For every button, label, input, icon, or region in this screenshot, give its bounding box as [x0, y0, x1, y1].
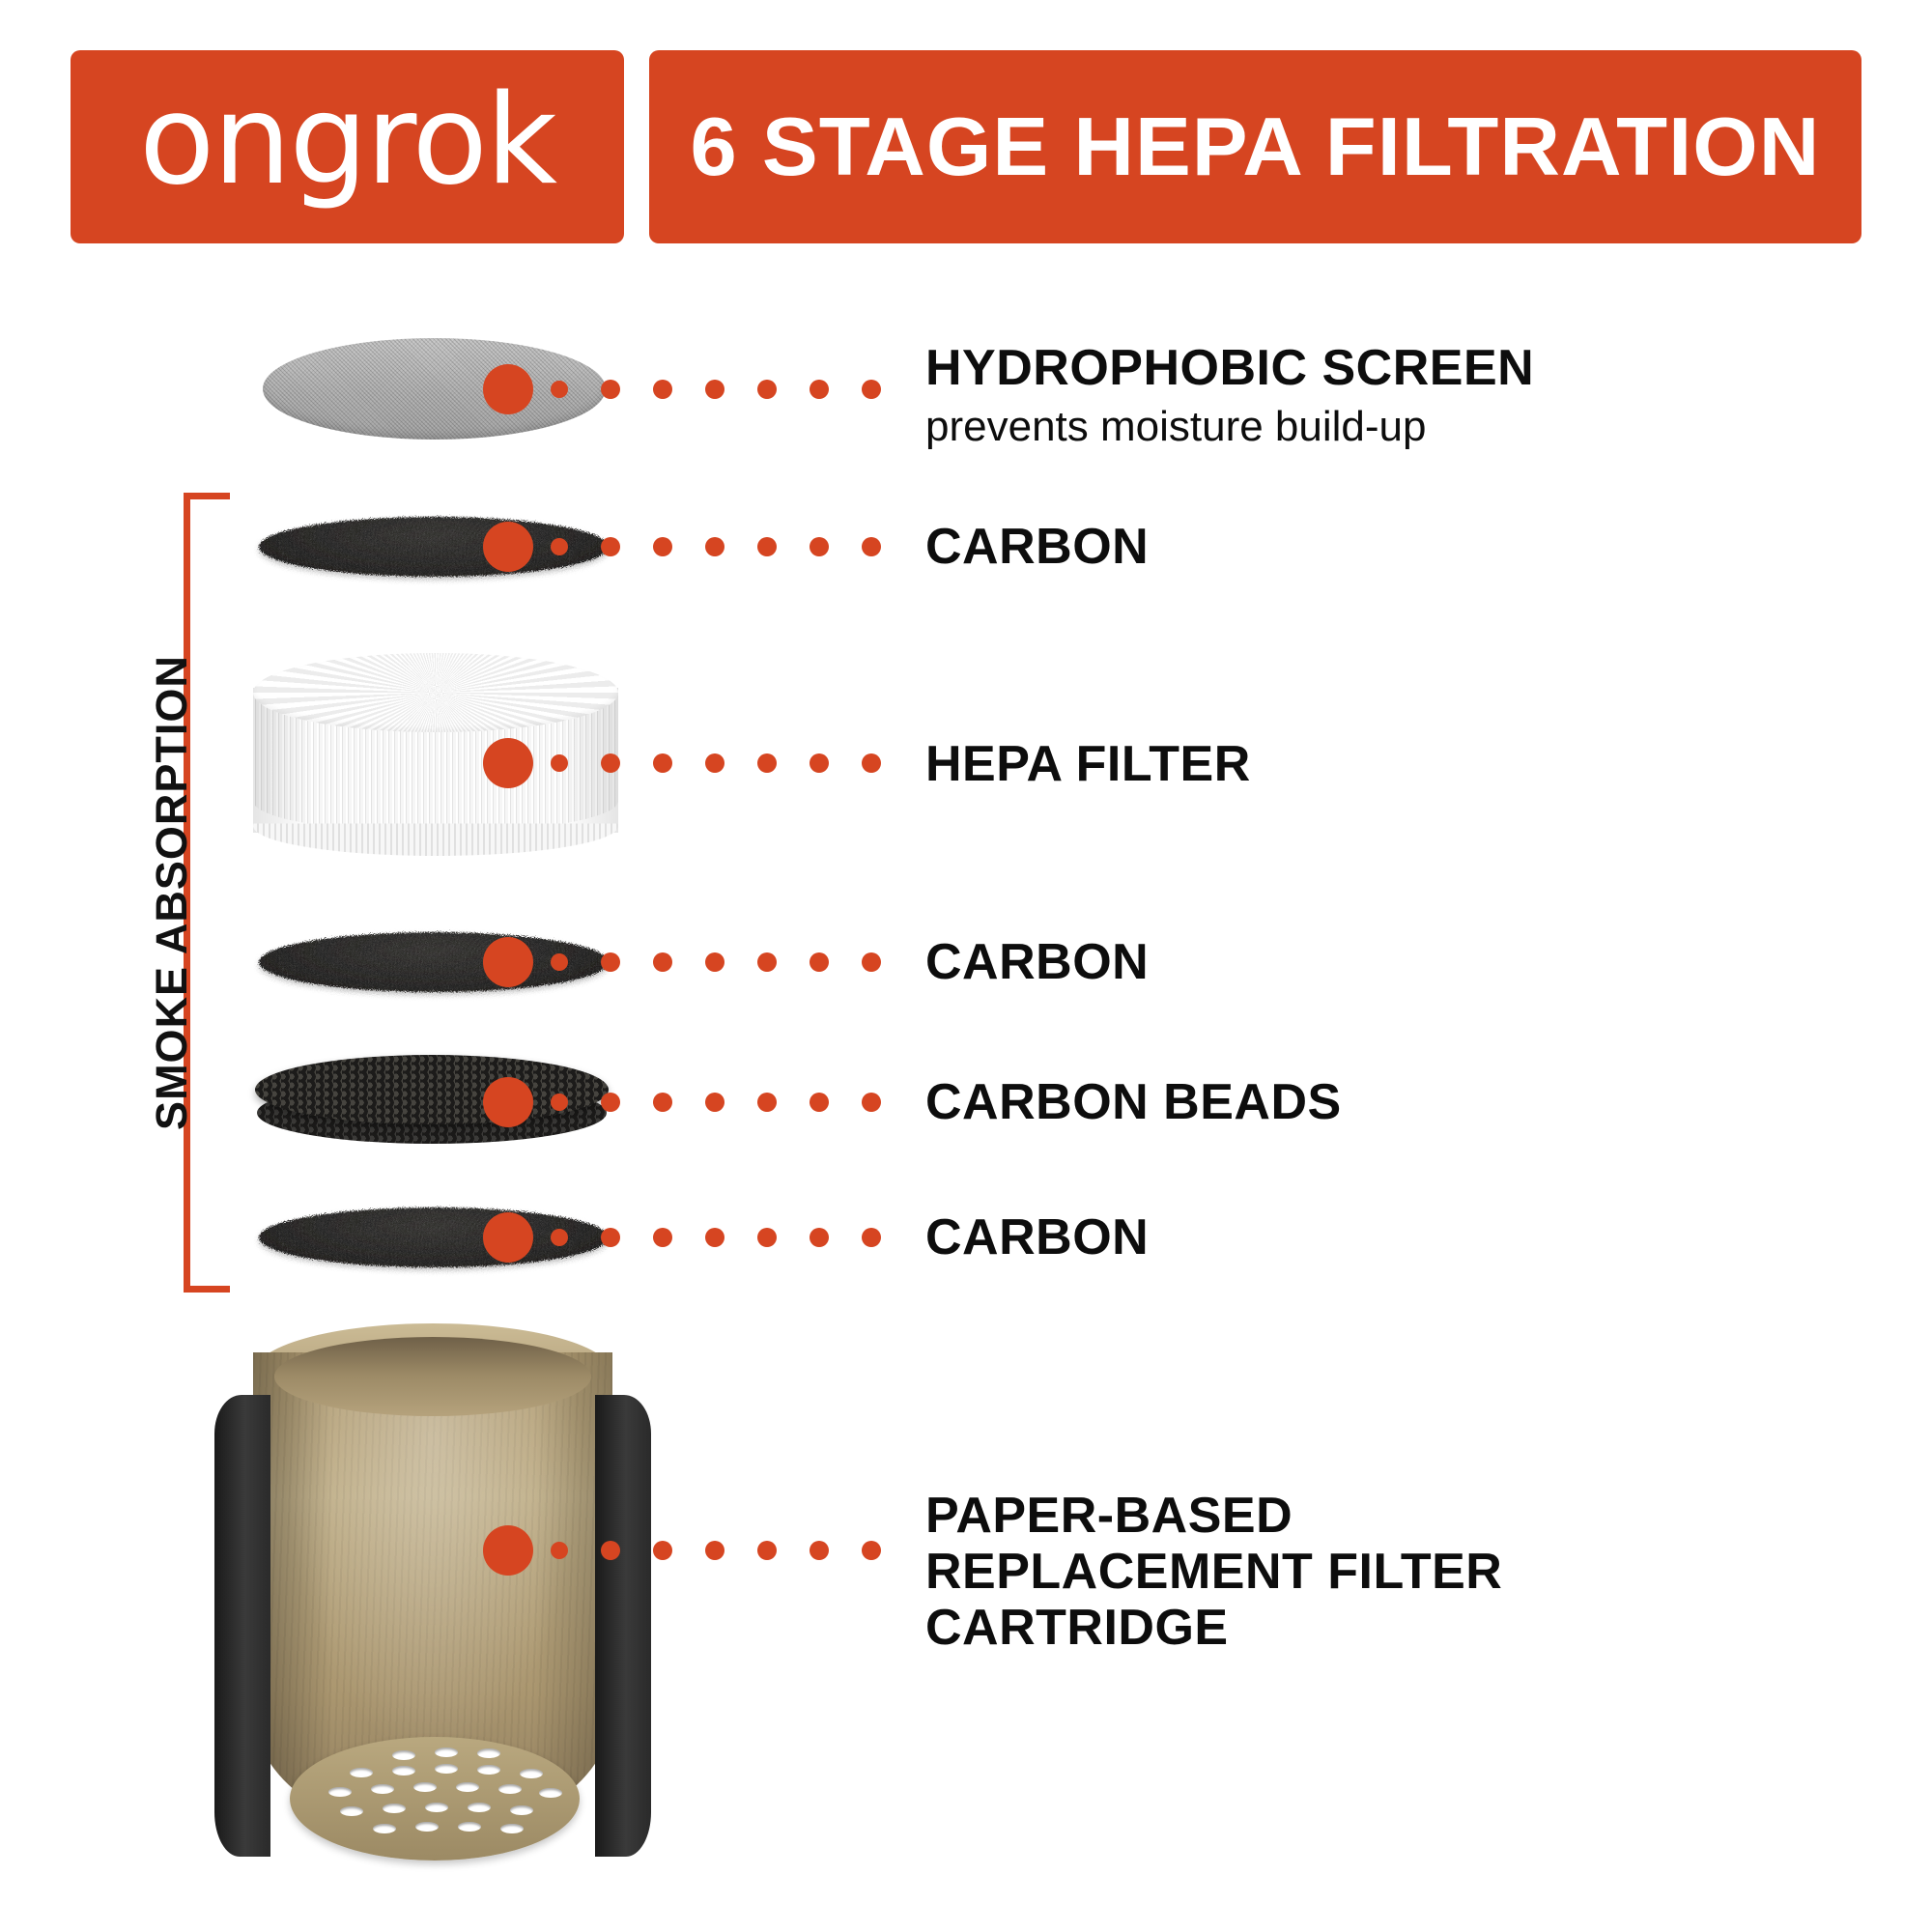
headline-text: 6 STAGE HEPA FILTRATION: [691, 106, 1821, 188]
connector-carbon-3: [483, 1210, 879, 1264]
cartridge-outer-shell-left: [214, 1395, 270, 1857]
trail-dot: [810, 1541, 829, 1560]
anchor-dot: [483, 522, 533, 572]
trail-dot: [601, 753, 620, 773]
lead-dot: [551, 1542, 568, 1559]
connector-hydrophobic-screen: [483, 362, 879, 416]
stage-subtitle: prevents moisture build-up: [925, 402, 1534, 453]
lead-dot: [551, 1229, 568, 1246]
trail-dot: [653, 952, 672, 972]
trail-dot: [601, 952, 620, 972]
trail-dot: [810, 952, 829, 972]
anchor-dot: [483, 1525, 533, 1576]
connector-hepa-filter: [483, 736, 879, 790]
trail-dot: [653, 753, 672, 773]
trail-dot: [653, 1228, 672, 1247]
stage-title: CARBON BEADS: [925, 1074, 1342, 1130]
lead-dot: [551, 953, 568, 971]
trail-dot: [810, 753, 829, 773]
trail-dot: [862, 1541, 881, 1560]
paper-cartridge-icon: [214, 1352, 651, 1893]
brand-logo-box: ongrok: [71, 50, 624, 243]
stage-label-paper-cartridge: PAPER-BASED REPLACEMENT FILTER CARTRIDGE: [925, 1488, 1502, 1657]
trail-dot: [653, 380, 672, 399]
anchor-dot: [483, 738, 533, 788]
anchor-dot: [483, 937, 533, 987]
stage-label-carbon-beads: CARBON BEADS: [925, 1074, 1342, 1130]
connector-carbon-beads: [483, 1075, 879, 1129]
trail-dot: [601, 1228, 620, 1247]
hepa-top-pleats: [253, 653, 618, 732]
trail-dot: [653, 1541, 672, 1560]
connector-carbon-1: [483, 520, 879, 574]
trail-dot: [810, 1093, 829, 1112]
stage-art-paper-cartridge: [214, 1352, 651, 1893]
trail-dot: [705, 753, 724, 773]
trail-dot: [862, 537, 881, 556]
trail-dot: [810, 1228, 829, 1247]
trail-dot: [757, 753, 777, 773]
stage-title: CARBON: [925, 934, 1149, 990]
anchor-dot: [483, 1077, 533, 1127]
stage-title: CARBON: [925, 1209, 1149, 1265]
trail-dot: [705, 380, 724, 399]
stage-label-carbon-2: CARBON: [925, 934, 1149, 990]
trail-dot: [757, 1093, 777, 1112]
brand-logo-text: ongrok: [139, 79, 555, 203]
connector-carbon-2: [483, 935, 879, 989]
stage-title: HYDROPHOBIC SCREEN: [925, 340, 1534, 396]
lead-dot: [551, 538, 568, 555]
stage-title-line-3: CARTRIDGE: [925, 1600, 1502, 1656]
anchor-dot: [483, 1212, 533, 1263]
lead-dot: [551, 381, 568, 398]
trail-dot: [757, 1541, 777, 1560]
stage-title-line-1: PAPER-BASED: [925, 1488, 1502, 1544]
headline-box: 6 STAGE HEPA FILTRATION: [649, 50, 1861, 243]
stage-label-hydrophobic-screen: HYDROPHOBIC SCREEN prevents moisture bui…: [925, 340, 1534, 453]
lead-dot: [551, 754, 568, 772]
trail-dot: [705, 1541, 724, 1560]
trail-dot: [862, 753, 881, 773]
cartridge-perforations: [290, 1737, 580, 1861]
stage-label-carbon-3: CARBON: [925, 1209, 1149, 1265]
stage-label-hepa-filter: HEPA FILTER: [925, 736, 1251, 792]
smoke-absorption-label: SMOKE ABSORPTION: [143, 493, 201, 1293]
trail-dot: [601, 1541, 620, 1560]
anchor-dot: [483, 364, 533, 414]
lead-dot: [551, 1094, 568, 1111]
trail-dot: [810, 380, 829, 399]
stage-title: CARBON: [925, 519, 1149, 575]
trail-dot: [862, 1228, 881, 1247]
trail-dot: [757, 952, 777, 972]
trail-dot: [757, 1228, 777, 1247]
connector-paper-cartridge: [483, 1523, 879, 1577]
trail-dot: [705, 1093, 724, 1112]
stage-title-line-2: REPLACEMENT FILTER: [925, 1544, 1502, 1600]
header-bar: ongrok 6 STAGE HEPA FILTRATION: [0, 0, 1932, 222]
trail-dot: [653, 537, 672, 556]
trail-dot: [601, 537, 620, 556]
trail-dot: [862, 952, 881, 972]
trail-dot: [862, 1093, 881, 1112]
trail-dot: [653, 1093, 672, 1112]
trail-dot: [757, 380, 777, 399]
trail-dot: [810, 537, 829, 556]
stage-title: HEPA FILTER: [925, 736, 1251, 792]
trail-dot: [705, 1228, 724, 1247]
stage-label-carbon-1: CARBON: [925, 519, 1149, 575]
trail-dot: [757, 537, 777, 556]
trail-dot: [705, 952, 724, 972]
cartridge-inner-rim: [274, 1337, 591, 1416]
trail-dot: [862, 380, 881, 399]
trail-dot: [601, 380, 620, 399]
cartridge-outer-shell-right: [595, 1395, 651, 1857]
trail-dot: [601, 1093, 620, 1112]
trail-dot: [705, 537, 724, 556]
